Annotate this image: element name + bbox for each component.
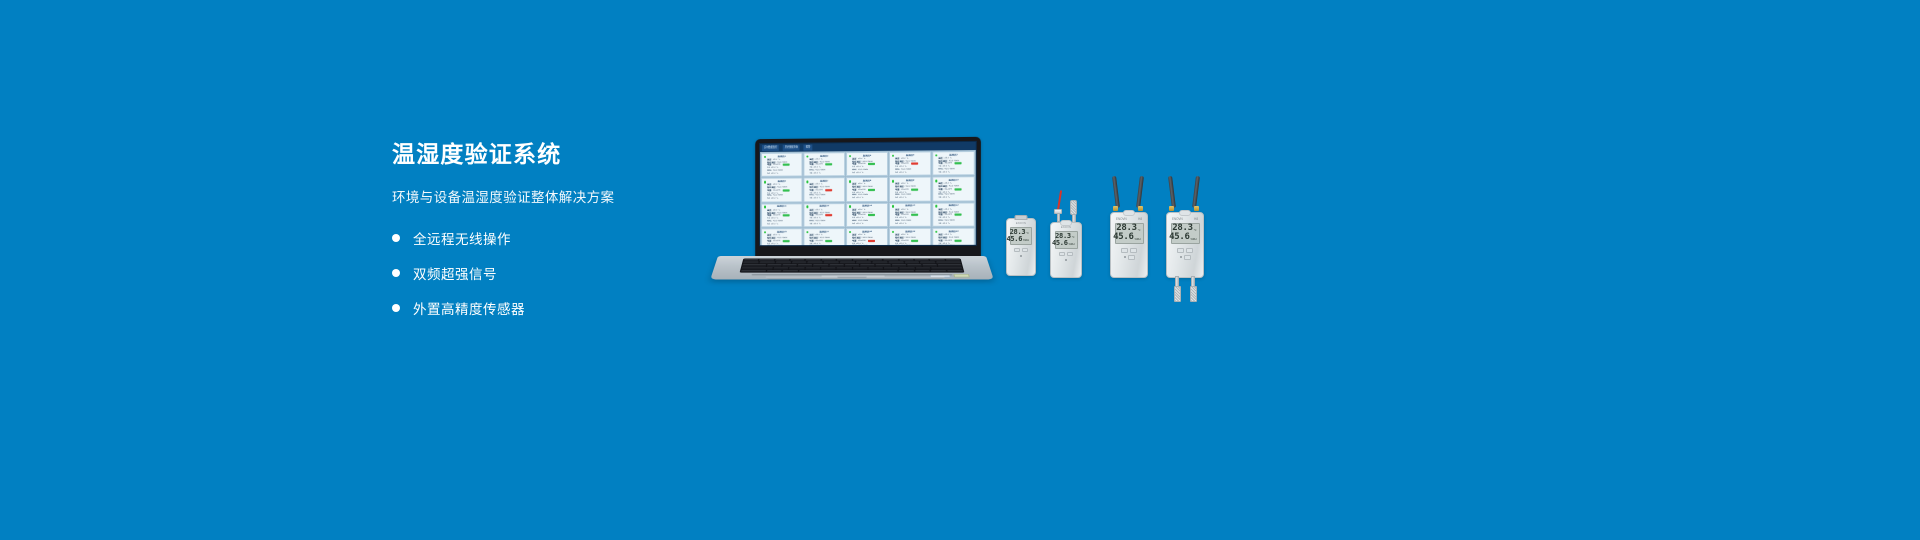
device-4: ENOVN H8 28.3 ℃ 45.6 %RH [1166, 176, 1204, 278]
card-data-row: RH1:45.6 %RH [891, 245, 929, 246]
device-1-display: 28.3 ℃ 45.6 %RH [1010, 227, 1032, 245]
probe-sensor-icon [1190, 286, 1197, 302]
card-row-label: T2: [938, 197, 941, 200]
laptop-product-image: 实时数据监控 历史数据查询 报警 监测点1温度:28.3 ℃相对湿度:45.6 … [718, 138, 986, 300]
device-button[interactable] [1186, 248, 1193, 253]
device-2-display: 28.3 ℃ 45.6 %RH [1055, 231, 1078, 249]
status-led-icon [1180, 256, 1182, 258]
device-button[interactable] [1067, 252, 1073, 256]
device-4-display: 28.3 ℃ 45.6 %RH [1171, 223, 1200, 244]
card-row-value: 28.3 ℃ [943, 196, 950, 199]
device-1-brand: ENOVN [1016, 222, 1026, 225]
card-data-row: T2:28.3 ℃ [891, 222, 929, 225]
humidity-unit: %RH [1023, 240, 1029, 243]
device-4-model: H8 [1194, 216, 1198, 221]
card-row-label: RH1: [809, 245, 814, 246]
card-row-value: 28.3 ℃ [771, 197, 778, 200]
antenna-base [1169, 206, 1174, 211]
monitor-card[interactable]: 监测点12温度:28.3 ℃相对湿度:45.6 %RH电量:95.20%T1:2… [803, 203, 845, 228]
probe-cable-icon [1057, 190, 1062, 210]
monitor-card[interactable]: 监测点13温度:28.3 ℃相对湿度:45.6 %RH电量:95.20%T1:2… [846, 203, 888, 228]
monitor-card[interactable]: 监测点18温度:28.3 ℃相对湿度:45.6 %RH电量:95.20%T1:2… [846, 228, 888, 246]
device-button[interactable] [1022, 248, 1028, 252]
probe-stem [1057, 213, 1060, 222]
card-row-value: 45.6 %RH [815, 245, 825, 246]
card-data-row: T2:28.3 ℃ [934, 222, 972, 225]
card-row-value: 28.3 ℃ [771, 172, 778, 175]
card-data-row: T2:28.3 ℃ [934, 171, 972, 174]
card-row-label: T2: [809, 172, 812, 175]
device-3-model: H8 [1138, 216, 1142, 221]
card-row-value: 28.3 ℃ [771, 223, 778, 226]
card-row-value: 45.6 %RH [944, 245, 954, 246]
laptop-screen: 实时数据监控 历史数据查询 报警 监测点1温度:28.3 ℃相对湿度:45.6 … [759, 141, 977, 246]
hanging-eyelet-icon [1179, 210, 1191, 216]
humidity-value: 45.6 [1113, 233, 1133, 242]
laptop-open-notch [837, 276, 866, 277]
bullet-dot-icon [392, 304, 400, 312]
device-4-brand: ENOVN [1172, 216, 1183, 221]
card-data-row: T2:28.3 ℃ [848, 197, 886, 200]
card-data-row: T2:28.3 ℃ [848, 222, 886, 225]
card-data-row: RH1:45.6 %RH [805, 245, 843, 246]
probe-filter-icon [1070, 200, 1077, 215]
device-3-brand: ENOVN [1116, 216, 1127, 221]
monitor-card[interactable]: 监测点15温度:28.3 ℃相对湿度:45.6 %RH电量:95.20%T1:2… [932, 202, 975, 227]
feature-list: 全远程无线操作 双频超强信号 外置高精度传感器 [392, 225, 732, 321]
card-row-value: 28.3 ℃ [814, 223, 821, 226]
device-2-brand: ENOVN [1061, 226, 1071, 229]
monitor-card[interactable]: 监测点1温度:28.3 ℃相对湿度:45.6 %RH电量:95.20%T1:28… [761, 153, 802, 178]
clip-icon [1015, 215, 1028, 220]
status-led-icon [1065, 259, 1067, 261]
keyboard[interactable] [740, 258, 965, 272]
card-row-value: 28.3 ℃ [856, 172, 863, 175]
card-row-label: T2: [809, 197, 812, 200]
monitor-card[interactable]: 监测点10温度:28.3 ℃相对湿度:45.6 %RH电量:95.20%T1:2… [932, 177, 975, 202]
card-data-row: T2:28.3 ℃ [934, 196, 972, 199]
device-1: ENOVN 28.3 ℃ 45.6 %RH [1006, 218, 1036, 276]
card-data-row: RH1:45.6 %RH [763, 245, 800, 246]
card-data-row: T2:28.3 ℃ [848, 171, 886, 174]
card-row-label: T2: [895, 171, 898, 174]
device-1-buttons[interactable] [1014, 248, 1028, 252]
key-row [741, 270, 963, 272]
card-data-row: RH1:45.6 %RH [848, 245, 886, 246]
tab-alarm[interactable]: 报警 [804, 145, 812, 151]
card-data-row: T2:28.3 ℃ [805, 222, 843, 225]
marketing-copy: 温湿度验证系统 环境与设备温湿度验证整体解决方案 全远程无线操作 双频超强信号 … [392, 140, 732, 330]
monitor-card[interactable]: 监测点11温度:28.3 ℃相对湿度:45.6 %RH电量:95.20%T1:2… [761, 203, 802, 227]
status-led-icon [1124, 256, 1126, 258]
monitor-card[interactable]: 监测点5温度:28.3 ℃相对湿度:45.6 %RH电量:95.20%T1:28… [932, 151, 975, 176]
humidity-value: 45.6 [1169, 233, 1189, 242]
antenna-base [1113, 206, 1118, 211]
device-3-labels: ENOVN H8 [1111, 217, 1147, 221]
page-title: 温湿度验证系统 [392, 140, 732, 169]
sensor-device-lineup: ENOVN 28.3 ℃ 45.6 %RH [1006, 176, 1226, 316]
monitor-card[interactable]: 监测点9温度:28.3 ℃相对湿度:45.6 %RH电量:95.20%T1:28… [889, 177, 931, 202]
card-row-label: T2: [767, 197, 770, 200]
card-data-row: RH1:45.6 %RH [934, 245, 972, 246]
monitor-card[interactable]: 监测点17温度:28.3 ℃相对湿度:45.6 %RH电量:95.20%T1:2… [803, 228, 845, 246]
card-row-label: T2: [895, 197, 898, 200]
card-row-label: T2: [852, 197, 855, 200]
card-data-row: T2:28.3 ℃ [763, 172, 800, 175]
card-row-label: T2: [809, 223, 812, 226]
device-4-labels: ENOVN H8 [1167, 217, 1203, 221]
device-button[interactable] [1130, 248, 1137, 253]
bullet-dot-icon [392, 234, 400, 242]
monitor-card[interactable]: 监测点14温度:28.3 ℃相对湿度:45.6 %RH电量:95.20%T1:2… [889, 203, 931, 228]
card-row-value: 28.3 ℃ [856, 197, 863, 200]
card-row-label: T2: [767, 223, 770, 226]
list-item: 外置高精度传感器 [392, 295, 732, 321]
device-3-buttons[interactable] [1121, 248, 1137, 253]
tab-label: 报警 [806, 146, 810, 149]
bullet-dot-icon [392, 269, 400, 277]
antenna-icon [1168, 176, 1176, 208]
card-row-value: 45.6 %RH [773, 245, 783, 246]
monitor-card[interactable]: 监测点8温度:28.3 ℃相对湿度:45.6 %RH电量:95.20%T1:28… [846, 177, 888, 202]
card-row-label: RH1: [938, 245, 943, 246]
device-3-body: ENOVN H8 28.3 ℃ 45.6 %RH [1110, 212, 1148, 278]
laptop-lid: 实时数据监控 历史数据查询 报警 监测点1温度:28.3 ℃相对湿度:45.6 … [755, 137, 981, 265]
device-3-display: 28.3 ℃ 45.6 %RH [1115, 223, 1144, 244]
card-data-row: T2:28.3 ℃ [763, 223, 800, 226]
laptop-base [710, 256, 993, 279]
monitor-card[interactable]: 监测点4温度:28.3 ℃相对湿度:45.6 %RH电量:95.20%T1:28… [889, 151, 931, 176]
device-button[interactable] [1184, 255, 1191, 260]
status-led-icon [1020, 255, 1022, 257]
card-row-label: T2: [938, 222, 941, 225]
card-row-label: RH1: [767, 245, 772, 246]
card-row-value: 28.3 ℃ [943, 171, 950, 174]
card-data-row: T2:28.3 ℃ [763, 197, 800, 200]
list-item: 全远程无线操作 [392, 225, 732, 251]
feature-label: 外置高精度传感器 [413, 298, 525, 318]
card-row-label: T2: [938, 171, 941, 174]
probe-sensor-icon [1174, 286, 1181, 302]
tab-history[interactable]: 历史数据查询 [783, 145, 800, 151]
humidity-value: 45.6 [1006, 236, 1022, 243]
device-1-body: ENOVN 28.3 ℃ 45.6 %RH [1006, 218, 1036, 276]
device-button[interactable] [1128, 255, 1135, 260]
device-3: ENOVN H8 28.3 ℃ 45.6 %RH [1110, 176, 1148, 278]
antenna-base [1138, 206, 1143, 211]
humidity-readout: 45.6 %RH [1118, 233, 1141, 242]
monitor-card[interactable]: 监测点7温度:28.3 ℃相对湿度:45.6 %RH电量:95.20%T1:28… [803, 178, 845, 203]
device-button[interactable] [1059, 252, 1065, 256]
card-row-label: T2: [852, 172, 855, 175]
hanging-eyelet-icon [1123, 210, 1135, 216]
monitor-card[interactable]: 监测点20温度:28.3 ℃相对湿度:45.6 %RH电量:95.20%T1:2… [932, 228, 975, 246]
card-row-value: 45.6 %RH [858, 245, 868, 246]
device-4-indicator-row [1180, 255, 1191, 260]
antenna-icon [1192, 176, 1200, 208]
card-row-value: 28.3 ℃ [899, 171, 906, 174]
card-data-row: T2:28.3 ℃ [891, 197, 929, 200]
device-2: ENOVN 28.3 ℃ 45.6 %RH [1050, 190, 1082, 278]
monitor-card[interactable]: 监测点6温度:28.3 ℃相对湿度:45.6 %RH电量:95.20%T1:28… [761, 178, 802, 203]
card-row-label: T2: [895, 222, 898, 225]
device-3-indicator-row [1124, 255, 1135, 260]
monitor-card-grid: 监测点1温度:28.3 ℃相对湿度:45.6 %RH电量:95.20%T1:28… [760, 150, 976, 246]
tab-label: 实时数据监控 [764, 147, 777, 150]
list-item: 双频超强信号 [392, 260, 732, 286]
monitor-card[interactable]: 监测点16温度:28.3 ℃相对湿度:45.6 %RH电量:95.20%T1:2… [761, 229, 802, 247]
device-2-buttons[interactable] [1059, 252, 1073, 256]
feature-label: 双频超强信号 [413, 263, 497, 283]
card-row-value: 28.3 ℃ [814, 172, 821, 175]
humidity-readout: 45.6 %RH [1013, 236, 1029, 243]
laptop-hinge [751, 274, 952, 275]
device-2-body: ENOVN 28.3 ℃ 45.6 %RH [1050, 222, 1082, 278]
humidity-value: 45.6 [1052, 240, 1068, 247]
card-data-row: T2:28.3 ℃ [891, 171, 929, 174]
humidity-unit: %RH [1134, 239, 1140, 242]
humidity-readout: 45.6 %RH [1174, 233, 1197, 242]
device-4-buttons[interactable] [1177, 248, 1193, 253]
card-row-value: 28.3 ℃ [899, 197, 906, 200]
card-data-row: T2:28.3 ℃ [805, 197, 843, 200]
humidity-readout: 45.6 %RH [1058, 240, 1075, 247]
card-row-label: RH1: [895, 245, 900, 246]
card-row-value: 28.3 ℃ [899, 222, 906, 225]
energy-sticker [953, 274, 970, 277]
tab-realtime[interactable]: 实时数据监控 [762, 145, 779, 151]
humidity-unit: %RH [1190, 239, 1196, 242]
antenna-icon [1112, 176, 1120, 208]
card-row-value: 28.3 ℃ [814, 197, 821, 200]
card-row-value: 45.6 %RH [901, 245, 911, 246]
card-row-label: RH1: [852, 245, 857, 246]
device-button[interactable] [1121, 248, 1128, 253]
card-row-label: T2: [852, 222, 855, 225]
feature-label: 全远程无线操作 [413, 228, 511, 248]
card-row-value: 28.3 ℃ [943, 222, 950, 225]
card-data-row: T2:28.3 ℃ [805, 172, 843, 175]
antenna-base [1194, 206, 1199, 211]
device-button[interactable] [1177, 248, 1184, 253]
tab-label: 历史数据查询 [785, 146, 798, 149]
card-row-label: T2: [767, 172, 770, 175]
device-button[interactable] [1014, 248, 1020, 252]
monitor-card[interactable]: 监测点2温度:28.3 ℃相对湿度:45.6 %RH电量:95.20%T1:28… [803, 152, 845, 177]
monitor-card[interactable]: 监测点3温度:28.3 ℃相对湿度:45.6 %RH电量:95.20%T1:28… [846, 152, 888, 177]
device-4-body: ENOVN H8 28.3 ℃ 45.6 %RH [1166, 212, 1204, 278]
monitor-card[interactable]: 监测点19温度:28.3 ℃相对湿度:45.6 %RH电量:95.20%T1:2… [889, 228, 931, 246]
antenna-icon [1136, 176, 1144, 208]
card-row-value: 28.3 ℃ [856, 222, 863, 225]
page-subtitle: 环境与设备温湿度验证整体解决方案 [392, 186, 732, 206]
promo-banner: 温湿度验证系统 环境与设备温湿度验证整体解决方案 全远程无线操作 双频超强信号 … [0, 0, 1920, 540]
humidity-unit: %RH [1068, 244, 1074, 247]
